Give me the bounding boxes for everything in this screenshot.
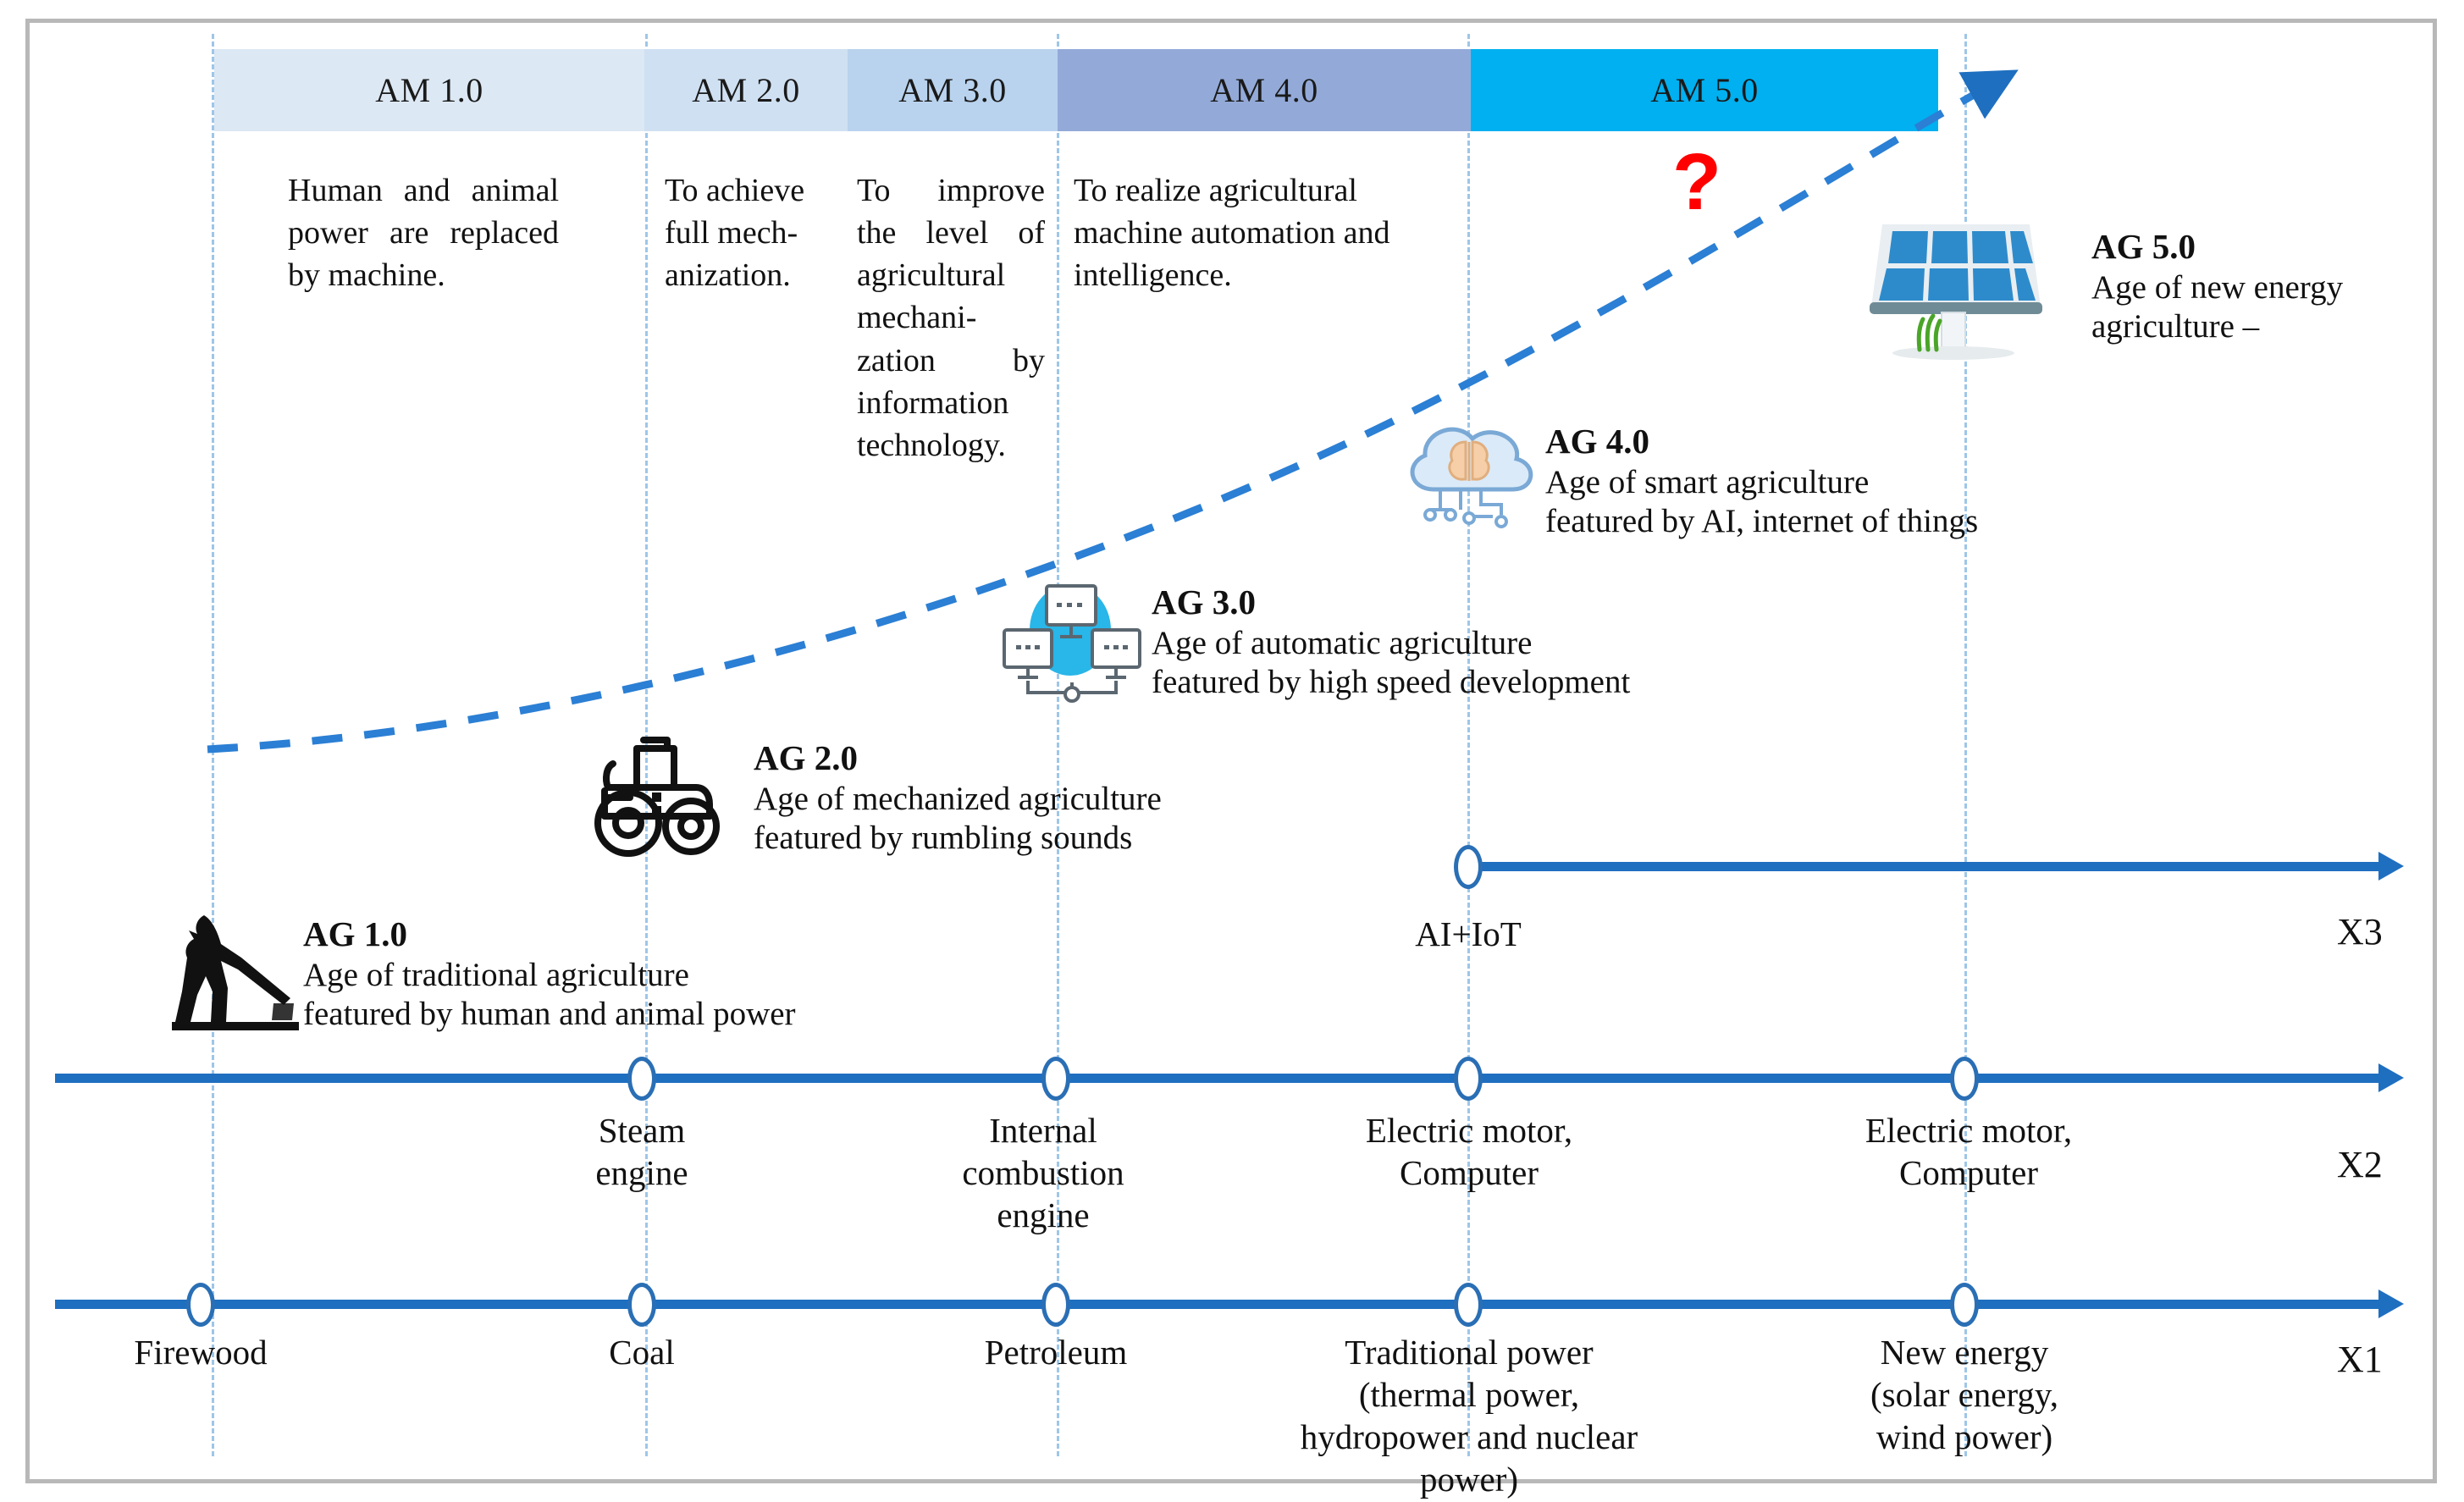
axis-x2-node-3 xyxy=(1454,1057,1483,1101)
description-am-1: Human and animal power are replaced by m… xyxy=(288,169,559,296)
milestone-ag-4-line2: featured by AI, internet of things xyxy=(1545,502,2138,541)
axis-x1-node-4-line2: (thermal power, xyxy=(1249,1373,1689,1416)
milestone-ag-3: AG 3.0 Age of automatic agriculture feat… xyxy=(1152,583,1795,702)
axis-x2-node-4-label: Electric motor, Computer xyxy=(1812,1109,2125,1194)
axis-x2-name: X2 xyxy=(2337,1143,2383,1186)
axis-x2-node-3-line2: Computer xyxy=(1312,1151,1626,1194)
band-am-2-label: AM 2.0 xyxy=(692,70,799,110)
band-am-2: AM 2.0 xyxy=(644,49,848,131)
axis-x1-node-5-line1: New energy xyxy=(1804,1331,2125,1373)
band-am-4-label: AM 4.0 xyxy=(1210,70,1318,110)
milestone-ag-5-line1: Age of new energy xyxy=(2091,268,2447,307)
tractor-icon xyxy=(584,735,737,866)
axis-x1-node-4-label: Traditional power (thermal power, hydrop… xyxy=(1249,1331,1689,1500)
axis-x2-node-4-line2: Computer xyxy=(1812,1151,2125,1194)
milestone-ag-3-title: AG 3.0 xyxy=(1152,583,1795,622)
axis-x1-node-4-line4: power) xyxy=(1249,1458,1689,1500)
axis-x2-node-2 xyxy=(1041,1057,1070,1101)
band-am-3: AM 3.0 xyxy=(848,49,1058,131)
milestone-ag-3-line1: Age of automatic agriculture xyxy=(1152,624,1795,663)
diagram-canvas: AM 1.0 AM 2.0 AM 3.0 AM 4.0 AM 5.0 Human… xyxy=(0,0,2464,1502)
axis-x2-node-2-label: Internal combustion engine xyxy=(912,1109,1174,1236)
axis-x1-node-5-line2: (solar energy, xyxy=(1804,1373,2125,1416)
milestone-ag-5: AG 5.0 Age of new energy agriculture – xyxy=(2091,227,2447,346)
axis-x1-node-4 xyxy=(1454,1283,1483,1327)
band-am-1: AM 1.0 xyxy=(214,49,644,131)
cloud-brain-icon xyxy=(1393,415,1545,542)
milestone-ag-3-line2: featured by high speed development xyxy=(1152,663,1795,702)
axis-x1-name: X1 xyxy=(2337,1338,2383,1381)
description-am-3: To improve the level of agricultural mec… xyxy=(857,169,1045,467)
axis-x1-node-3-label: Petroleum xyxy=(933,1331,1179,1373)
description-am-2: To achieve full mech-anization. xyxy=(665,169,826,296)
milestone-ag-2-title: AG 2.0 xyxy=(754,738,1346,778)
band-am-5: AM 5.0 xyxy=(1471,49,1938,131)
milestone-ag-4-title: AG 4.0 xyxy=(1545,422,2138,461)
axis-x1-node-1-line1: Firewood xyxy=(78,1331,323,1373)
axis-x1-node-4-line1: Traditional power xyxy=(1249,1331,1689,1373)
milestone-ag-1-title: AG 1.0 xyxy=(303,914,947,954)
milestone-ag-1-line1: Age of traditional agriculture xyxy=(303,956,947,995)
axis-x2-node-4 xyxy=(1950,1057,1979,1101)
milestone-ag-1-line2: featured by human and animal power xyxy=(303,995,947,1034)
gridline-1 xyxy=(212,34,214,1456)
axis-x2-node-3-line1: Electric motor, xyxy=(1312,1109,1626,1151)
milestone-ag-2-line1: Age of mechanized agriculture xyxy=(754,780,1346,819)
solar-panel-icon xyxy=(1867,207,2045,368)
band-am-5-label: AM 5.0 xyxy=(1650,70,1758,110)
band-am-3-label: AM 3.0 xyxy=(898,70,1006,110)
axis-x2-node-4-line1: Electric motor, xyxy=(1812,1109,2125,1151)
axis-x1-node-1-label: Firewood xyxy=(78,1331,323,1373)
description-am-4: To realize agricultural machine automati… xyxy=(1074,169,1472,296)
axis-x2-node-1-line2: engine xyxy=(515,1151,769,1194)
milestone-ag-5-title: AG 5.0 xyxy=(2091,227,2447,267)
axis-x1-node-2-line1: Coal xyxy=(519,1331,765,1373)
band-am-1-label: AM 1.0 xyxy=(375,70,483,110)
computer-network-icon xyxy=(999,574,1147,710)
milestone-ag-4: AG 4.0 Age of smart agriculture featured… xyxy=(1545,422,2138,541)
milestone-ag-4-line1: Age of smart agriculture xyxy=(1545,463,2138,502)
axis-x1-node-4-line3: hydropower and nuclear xyxy=(1249,1416,1689,1458)
axis-x1-node-2 xyxy=(627,1283,656,1327)
axis-x3-name: X3 xyxy=(2337,910,2383,953)
axis-x1-line xyxy=(55,1300,2382,1309)
farmer-plowing-icon xyxy=(157,910,309,1041)
axis-x1-node-2-label: Coal xyxy=(519,1331,765,1373)
axis-x1-node-1 xyxy=(186,1283,215,1327)
milestone-ag-5-line2: agriculture – xyxy=(2091,307,2447,346)
axis-x2-node-1-label: Steam engine xyxy=(515,1109,769,1194)
axis-x2-node-3-label: Electric motor, Computer xyxy=(1312,1109,1626,1194)
axis-x1-node-5-label: New energy (solar energy, wind power) xyxy=(1804,1331,2125,1458)
question-mark: ? xyxy=(1672,142,1721,223)
axis-x2-line xyxy=(55,1074,2382,1083)
axis-x2-node-1-line1: Steam xyxy=(515,1109,769,1151)
milestone-ag-2: AG 2.0 Age of mechanized agriculture fea… xyxy=(754,738,1346,858)
axis-x3-line xyxy=(1461,862,2382,871)
axis-x2-node-2-line3: engine xyxy=(912,1194,1174,1236)
axis-x1-node-3-line1: Petroleum xyxy=(933,1331,1179,1373)
axis-x1-node-5-line3: wind power) xyxy=(1804,1416,2125,1458)
milestone-ag-2-line2: featured by rumbling sounds xyxy=(754,819,1346,858)
axis-x1-node-3 xyxy=(1041,1283,1070,1327)
axis-x2-node-2-line2: combustion xyxy=(912,1151,1174,1194)
axis-x2-node-1 xyxy=(627,1057,656,1101)
band-am-4: AM 4.0 xyxy=(1058,49,1471,131)
axis-x3-node-1-label: AI+IoT xyxy=(1367,913,1570,955)
axis-x2-node-2-line1: Internal xyxy=(912,1109,1174,1151)
axis-x3-node-1 xyxy=(1454,845,1483,889)
milestone-ag-1: AG 1.0 Age of traditional agriculture fe… xyxy=(303,914,947,1034)
axis-x1-node-5 xyxy=(1950,1283,1979,1327)
